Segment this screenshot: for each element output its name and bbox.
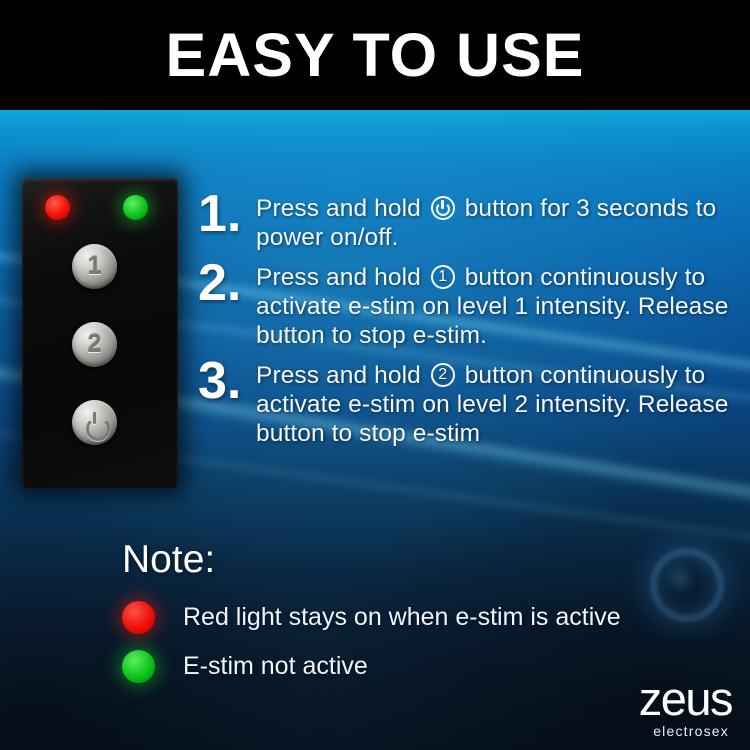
green-indicator-icon xyxy=(122,650,155,683)
promo-infographic: EASY TO USE 1 2 1. Press and hold button xyxy=(0,0,750,750)
circled-1-icon: 1 xyxy=(431,265,455,289)
note-title: Note: xyxy=(122,540,722,579)
device-button-2-label: 2 xyxy=(88,332,102,357)
brand-name: zeus xyxy=(639,675,732,722)
power-icon xyxy=(431,196,455,220)
power-icon xyxy=(84,412,106,434)
circled-2-digit: 2 xyxy=(431,363,455,387)
red-indicator-icon xyxy=(122,601,155,634)
red-led xyxy=(45,195,70,220)
device-button-2[interactable]: 2 xyxy=(72,322,117,367)
step-number: 1. xyxy=(198,190,256,240)
circled-2-icon: 2 xyxy=(431,363,455,387)
step-item: 1. Press and hold button for 3 seconds t… xyxy=(198,190,750,252)
step-text: Press and hold 2 button continuously to … xyxy=(256,357,750,448)
device-button-1-label: 1 xyxy=(88,254,102,279)
green-led xyxy=(123,195,148,220)
header-banner: EASY TO USE xyxy=(0,0,750,110)
device-control-panel: 1 2 xyxy=(22,178,178,488)
brand-logo: zeus electrosex xyxy=(639,675,732,738)
step-text: Press and hold button for 3 seconds to p… xyxy=(256,190,750,252)
instruction-steps: 1. Press and hold button for 3 seconds t… xyxy=(198,190,750,455)
step-item: 3. Press and hold 2 button continuously … xyxy=(198,357,750,448)
step-text-before: Press and hold xyxy=(256,362,421,389)
step-text-before: Press and hold xyxy=(256,195,421,222)
note-item: Red light stays on when e-stim is active xyxy=(122,601,722,634)
step-number: 3. xyxy=(198,357,256,407)
note-item: E-stim not active xyxy=(122,650,722,683)
note-item-label: E-stim not active xyxy=(183,654,368,679)
note-section: Note: Red light stays on when e-stim is … xyxy=(122,540,722,699)
step-text: Press and hold 1 button continuously to … xyxy=(256,259,750,350)
page-title: EASY TO USE xyxy=(166,25,585,86)
step-item: 2. Press and hold 1 button continuously … xyxy=(198,259,750,350)
step-text-before: Press and hold xyxy=(256,264,421,291)
circled-1-digit: 1 xyxy=(431,265,455,289)
brand-tagline: electrosex xyxy=(639,724,729,738)
device-button-1[interactable]: 1 xyxy=(72,244,117,289)
step-number: 2. xyxy=(198,259,256,309)
note-item-label: Red light stays on when e-stim is active xyxy=(183,605,621,630)
device-power-button[interactable] xyxy=(72,400,117,445)
